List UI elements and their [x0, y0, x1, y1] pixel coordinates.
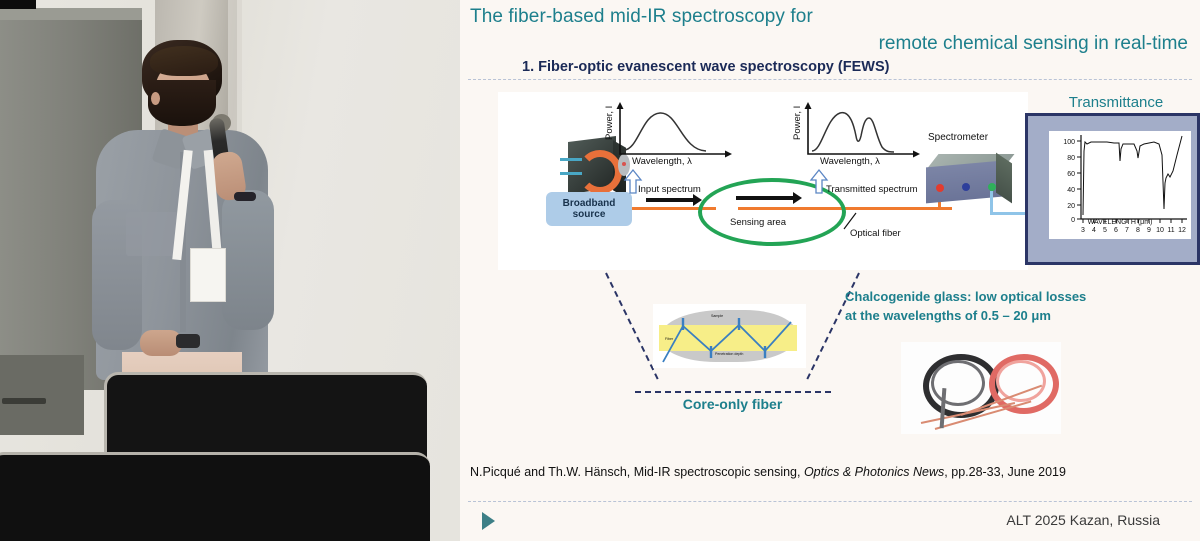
divider-top	[468, 79, 1192, 80]
transmitted-spectrum-label: Transmitted spectrum	[826, 184, 918, 195]
input-plot-ylabel: Power, I	[604, 106, 615, 140]
svg-text:12: 12	[1178, 227, 1186, 234]
input-plot-xlabel: Wavelength, λ	[632, 156, 692, 167]
chalcogenide-note: Chalcogenide glass: low optical losses a…	[845, 288, 1145, 326]
transmittance-xlabel: WAVELENGTH (μm)	[1049, 219, 1191, 226]
transmitted-plot-ylabel: Power, I	[792, 106, 803, 140]
source-wire-top	[560, 158, 582, 161]
fews-diagram-panel: Broadbandsource Power, I Wavelen	[498, 92, 1028, 270]
conference-badge	[190, 248, 226, 302]
auditorium-seat-back-2	[0, 452, 430, 541]
core-only-fiber-inset: Sample Fiber Penetration depth	[653, 304, 806, 368]
evanescent-ray-path	[653, 304, 806, 368]
svg-text:10: 10	[1156, 227, 1164, 234]
inset-sample-label: Sample	[711, 314, 723, 318]
spectrometer-port-green	[988, 183, 996, 191]
spectrometer-port-blue	[962, 183, 970, 191]
optical-fiber-segment-1	[632, 207, 706, 210]
svg-text:3: 3	[1081, 227, 1085, 234]
cabinet-handle	[2, 398, 46, 404]
svg-text:4: 4	[1092, 227, 1096, 234]
svg-text:60: 60	[1067, 171, 1075, 178]
transmitted-plot-xlabel: Wavelength, λ	[820, 156, 880, 167]
presentation-clicker	[176, 334, 200, 348]
svg-text:20: 20	[1067, 203, 1075, 210]
svg-text:8: 8	[1136, 227, 1140, 234]
inset-penetration-depth-label: Penetration depth	[715, 352, 743, 356]
citation-pages: , pp.28-33, June 2019	[944, 465, 1066, 479]
video-corner-marker	[0, 0, 36, 9]
citation: N.Picqué and Th.W. Hänsch, Mid-IR spectr…	[470, 465, 1066, 479]
citation-authors: N.Picqué and Th.W. Hänsch, Mid-IR spectr…	[470, 465, 804, 479]
slide-title-line-2: remote chemical sensing in real-time	[460, 33, 1188, 55]
section-heading: 1. Fiber-optic evanescent wave spectrosc…	[522, 59, 889, 75]
svg-text:100: 100	[1063, 139, 1075, 146]
spectrometer-port-red	[936, 184, 944, 192]
transmittance-xlabel-text: WAVELENGTH	[1088, 219, 1136, 226]
citation-journal: Optics & Photonics News	[804, 465, 944, 479]
svg-text:9: 9	[1147, 227, 1151, 234]
transmittance-title: Transmittance	[1032, 94, 1200, 111]
propagation-arrow-1	[646, 198, 694, 202]
broadband-source-label: Broadbandsource	[546, 192, 632, 226]
presentation-screenshot: The fiber-based mid-IR spectroscopy for …	[0, 0, 1200, 541]
spectrometer-label: Spectrometer	[928, 132, 988, 143]
footer-conference: ALT 2025 Kazan, Russia	[460, 512, 1160, 528]
cabinet-lower	[0, 355, 84, 435]
speaker-video-feed[interactable]	[0, 0, 460, 541]
divider-bottom	[468, 501, 1192, 502]
sensing-area-label: Sensing area	[730, 217, 786, 228]
slide-area: The fiber-based mid-IR spectroscopy for …	[460, 0, 1200, 541]
svg-text:40: 40	[1067, 187, 1075, 194]
source-wire-bottom	[560, 172, 582, 175]
svg-text:11: 11	[1167, 227, 1174, 234]
dark-fiber-coil-inner	[931, 360, 985, 406]
core-only-fiber-caption: Core-only fiber	[605, 396, 860, 412]
chalcogenide-line-1: Chalcogenide glass: low optical losses	[845, 288, 1145, 307]
svg-text:5: 5	[1103, 227, 1107, 234]
input-spectrum-label: Input spectrum	[638, 184, 701, 195]
inset-fiber-label: Fiber	[665, 337, 673, 341]
fiber-coil-photo	[901, 342, 1061, 434]
cabinet-top	[0, 8, 142, 20]
red-fiber-coil-inner	[996, 360, 1046, 402]
transmittance-chart: 1008060 40200 345 678 91011 12	[1049, 131, 1191, 239]
broadband-source-text: Broadbandsource	[563, 198, 616, 221]
slide-title-line-1: The fiber-based mid-IR spectroscopy for	[470, 6, 813, 28]
chalcogenide-line-2: at the wavelengths of 0.5 – 20 μm	[845, 307, 1145, 326]
svg-text:6: 6	[1114, 227, 1118, 234]
svg-text:7: 7	[1125, 227, 1129, 234]
svg-text:80: 80	[1067, 155, 1075, 162]
fiber-leader-line	[842, 210, 860, 230]
signal-cable-vertical	[990, 191, 993, 213]
transmittance-xunit-text: (μm)	[1138, 219, 1153, 226]
